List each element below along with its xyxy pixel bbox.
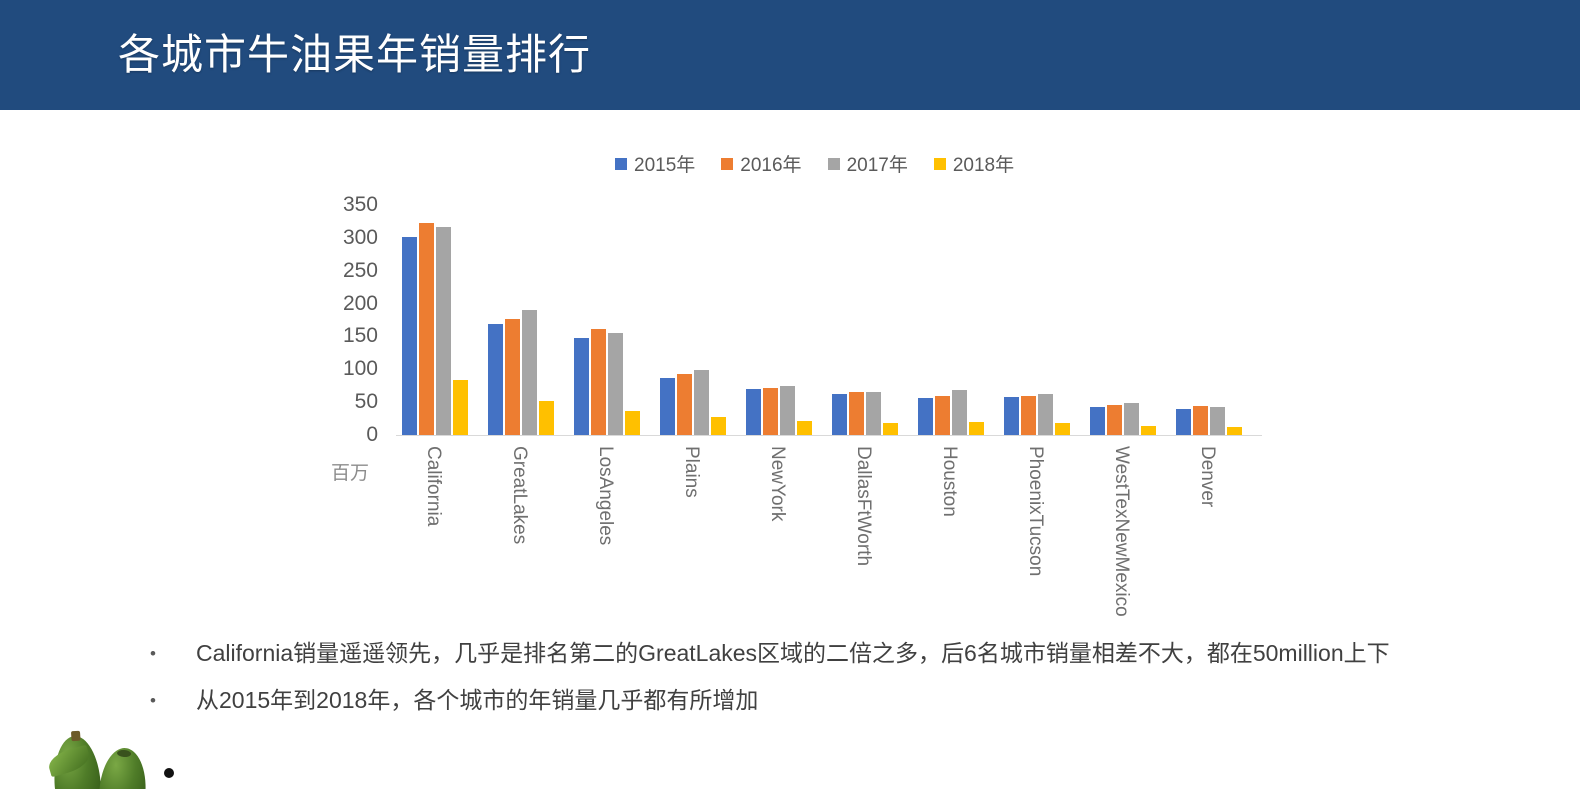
x-axis-label-GreatLakes: GreatLakes [508,446,530,544]
title-banner: 各城市牛油果年销量排行 [0,0,1580,110]
bar-group-WestTexNewMexico [1090,403,1156,435]
x-axis-label-LosAngeles: LosAngeles [594,446,616,545]
bar-group-NewYork [746,386,812,435]
bar-Denver-2018年[interactable] [1227,427,1242,435]
avocado-nub [117,750,131,758]
x-axis-label-DallasFtWorth: DallasFtWorth [852,446,874,566]
bar-California-2018年[interactable] [453,380,468,435]
bar-DallasFtWorth-2015年[interactable] [832,394,847,435]
legend-swatch-icon [934,158,946,170]
chart-legend: 2015年2016年2017年2018年 [615,150,1014,177]
bar-Plains-2018年[interactable] [711,417,726,435]
bar-NewYork-2015年[interactable] [746,389,761,435]
bar-GreatLakes-2018年[interactable] [539,401,554,435]
bar-GreatLakes-2016年[interactable] [505,319,520,435]
bar-DallasFtWorth-2017年[interactable] [866,392,881,435]
avocado-right [98,746,149,789]
bullet-item: •California销量遥遥领先，几乎是排名第二的GreatLakes区域的二… [150,630,1440,677]
bar-group-DallasFtWorth [832,392,898,435]
bullet-item: •从2015年到2018年，各个城市的年销量几乎都有所增加 [150,677,1440,724]
bar-NewYork-2017年[interactable] [780,386,795,435]
bar-LosAngeles-2018年[interactable] [625,411,640,435]
bullet-list: •California销量遥遥领先，几乎是排名第二的GreatLakes区域的二… [150,630,1440,724]
legend-item-2017年[interactable]: 2017年 [828,150,908,177]
y-axis-tick-200: 200 [318,292,378,316]
bullet-marker-icon: • [150,677,196,724]
bar-WestTexNewMexico-2015年[interactable] [1090,407,1105,435]
bar-group-Plains [660,370,726,435]
bar-LosAngeles-2015年[interactable] [574,338,589,435]
bar-DallasFtWorth-2016年[interactable] [849,392,864,435]
legend-label: 2015年 [634,150,695,177]
x-axis-label-WestTexNewMexico: WestTexNewMexico [1110,446,1132,617]
bar-group-LosAngeles [574,329,640,435]
x-axis-line [396,435,1262,436]
bar-WestTexNewMexico-2017年[interactable] [1124,403,1139,435]
bar-NewYork-2018年[interactable] [797,421,812,435]
avocado-image [48,722,176,789]
bar-Denver-2016年[interactable] [1193,406,1208,435]
bar-PhoenixTucson-2016年[interactable] [1021,396,1036,435]
bar-Houston-2015年[interactable] [918,398,933,435]
bar-Plains-2016年[interactable] [677,374,692,435]
bar-group-California [402,223,468,435]
bar-WestTexNewMexico-2018年[interactable] [1141,426,1156,435]
legend-item-2016年[interactable]: 2016年 [721,150,801,177]
y-axis-tick-100: 100 [318,357,378,381]
decorative-dot [164,768,174,778]
legend-label: 2017年 [847,150,908,177]
plot-area [396,205,1262,435]
bar-NewYork-2016年[interactable] [763,388,778,435]
bar-Plains-2015年[interactable] [660,378,675,435]
legend-label: 2016年 [740,150,801,177]
bar-group-GreatLakes [488,310,554,435]
bar-GreatLakes-2017年[interactable] [522,310,537,435]
bar-Houston-2017年[interactable] [952,390,967,435]
bar-GreatLakes-2015年[interactable] [488,324,503,435]
bullet-marker-icon: • [150,630,196,677]
bullet-text: 从2015年到2018年，各个城市的年销量几乎都有所增加 [196,677,1440,724]
legend-swatch-icon [615,158,627,170]
x-axis-label-Plains: Plains [680,446,702,498]
bar-LosAngeles-2016年[interactable] [591,329,606,435]
legend-item-2015年[interactable]: 2015年 [615,150,695,177]
bar-group-PhoenixTucson [1004,394,1070,435]
y-axis-unit-label: 百万 [331,458,369,485]
legend-item-2018年[interactable]: 2018年 [934,150,1014,177]
bar-Denver-2017年[interactable] [1210,407,1225,435]
x-axis-label-Denver: Denver [1196,446,1218,507]
bar-PhoenixTucson-2017年[interactable] [1038,394,1053,435]
bar-PhoenixTucson-2018年[interactable] [1055,423,1070,435]
legend-swatch-icon [828,158,840,170]
x-axis-label-California: California [422,446,444,526]
y-axis-tick-300: 300 [318,226,378,250]
legend-label: 2018年 [953,150,1014,177]
x-axis-label-NewYork: NewYork [766,446,788,521]
bar-chart: 2015年2016年2017年2018年 3503002502001501005… [0,110,1580,615]
legend-swatch-icon [721,158,733,170]
y-axis-tick-50: 50 [318,390,378,414]
bar-group-Denver [1176,406,1242,435]
y-axis-tick-250: 250 [318,259,378,283]
bar-California-2017年[interactable] [436,227,451,435]
bar-Plains-2017年[interactable] [694,370,709,435]
y-axis-tick-350: 350 [318,193,378,217]
bar-Houston-2016年[interactable] [935,396,950,435]
bar-DallasFtWorth-2018年[interactable] [883,423,898,435]
bar-group-Houston [918,390,984,435]
y-axis-tick-labels: 350300250200150100500 [318,205,378,435]
avocado-stem [71,731,81,742]
x-axis-label-Houston: Houston [938,446,960,517]
bar-California-2016年[interactable] [419,223,434,435]
bar-PhoenixTucson-2015年[interactable] [1004,397,1019,435]
x-axis-label-PhoenixTucson: PhoenixTucson [1024,446,1046,576]
bar-Denver-2015年[interactable] [1176,409,1191,435]
page-title: 各城市牛油果年销量排行 [118,25,591,85]
bar-LosAngeles-2017年[interactable] [608,333,623,436]
bar-WestTexNewMexico-2016年[interactable] [1107,405,1122,435]
y-axis-tick-150: 150 [318,324,378,348]
y-axis-tick-0: 0 [318,423,378,447]
bar-California-2015年[interactable] [402,237,417,435]
bullet-text: California销量遥遥领先，几乎是排名第二的GreatLakes区域的二倍… [196,630,1440,677]
bar-Houston-2018年[interactable] [969,422,984,435]
